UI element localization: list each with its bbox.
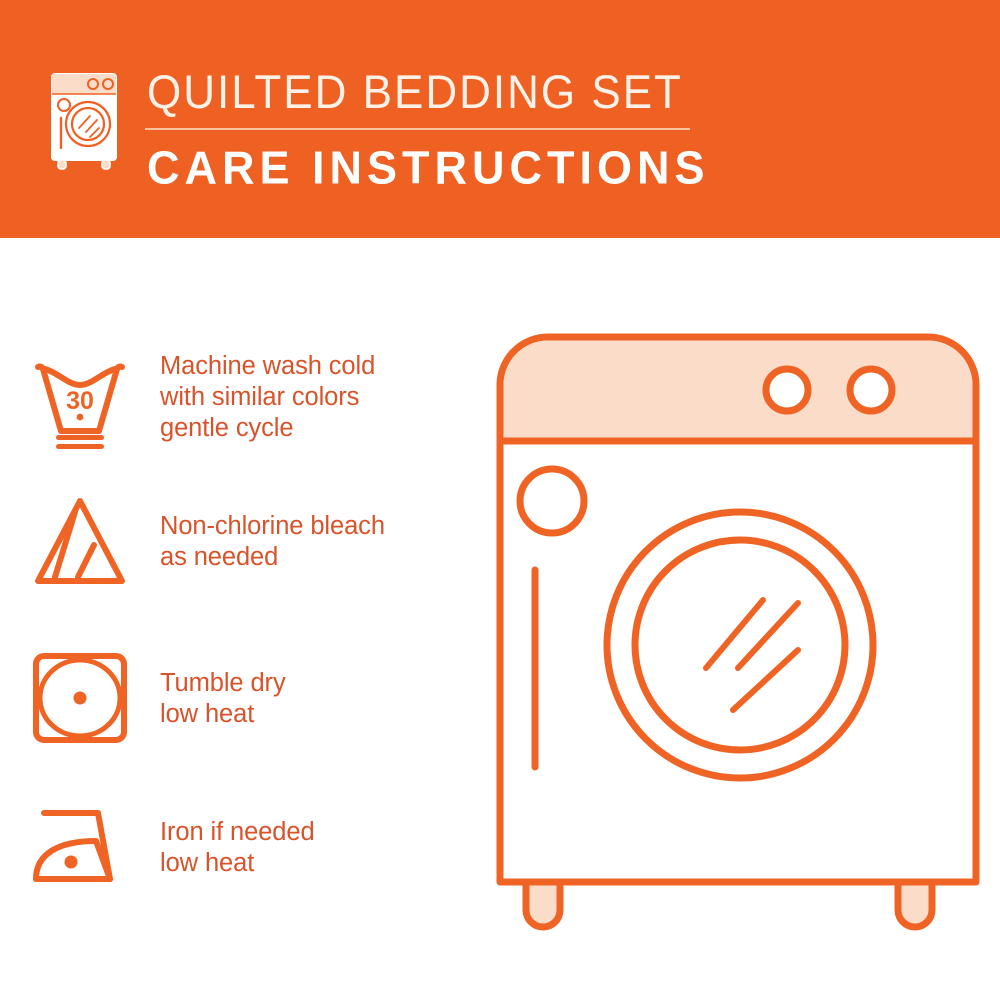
care-item-tumble-dry: Tumble dry low heat [0,636,470,760]
care-instructions-infographic: QUILTED BEDDING SET CARE INSTRUCTIONS 30 [0,0,1000,1000]
machine-foot-left [526,882,560,927]
care-item-wash: 30 Machine wash cold with similar colors… [0,333,470,461]
header-text-block: QUILTED BEDDING SET CARE INSTRUCTIONS [145,66,765,192]
door-inner-ring [635,540,845,750]
wash-temperature-value: 30 [66,387,94,415]
care-item-tumble-dry-label: Tumble dry low heat [160,667,470,730]
page-title: QUILTED BEDDING SET [145,66,765,120]
header-banner: QUILTED BEDDING SET CARE INSTRUCTIONS [0,0,1000,238]
iron-icon [0,801,160,893]
care-item-bleach: Non-chlorine bleach as needed [0,481,470,601]
bleach-triangle-icon [0,493,160,589]
machine-foot-right [898,882,932,927]
care-item-wash-label: Machine wash cold with similar colors ge… [160,350,470,444]
page-subtitle: CARE INSTRUCTIONS [145,142,765,194]
tumble-dry-icon [0,648,160,748]
washing-machine-logo-icon [44,68,128,172]
care-item-iron-label: Iron if needed low heat [160,816,470,879]
care-item-iron: Iron if needed low heat [0,788,470,906]
care-instruction-list: 30 Machine wash cold with similar colors… [0,238,480,1000]
care-item-bleach-label: Non-chlorine bleach as needed [160,510,470,573]
title-divider [145,128,690,130]
washing-machine-illustration [488,325,988,945]
control-knob-left [766,369,808,411]
wash-tub-icon: 30 [0,345,160,449]
control-knob-right [850,369,892,411]
